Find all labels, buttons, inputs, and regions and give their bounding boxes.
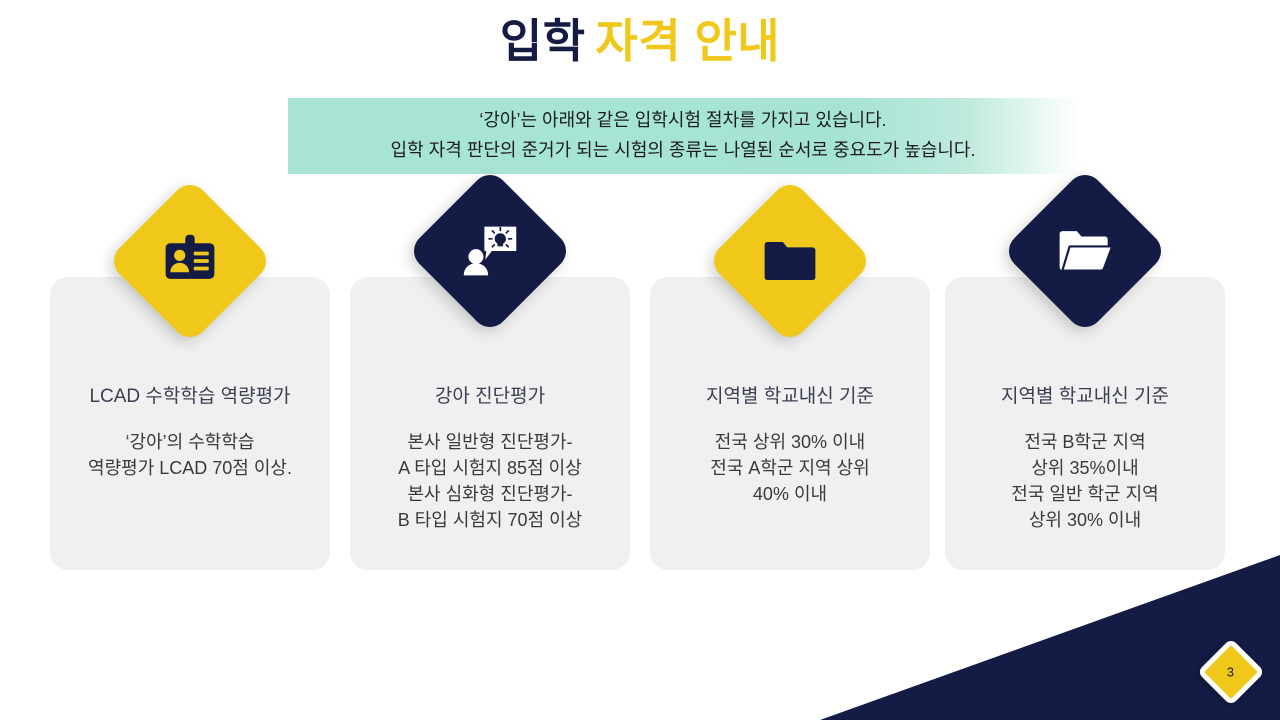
- card-body: 전국 상위 30% 이내 전국 A학군 지역 상위 40% 이내: [656, 429, 924, 507]
- card-body-line: 전국 상위 30% 이내: [656, 429, 924, 455]
- card-title: LCAD 수학학습 역량평가: [50, 385, 330, 410]
- card-body-line: 전국 A학군 지역 상위: [656, 455, 924, 481]
- folder-closed-icon: [757, 228, 823, 294]
- card-body: ‘강아’의 수학학습 역량평가 LCAD 70점 이상.: [56, 429, 324, 481]
- subtitle-line-2: 입학 자격 판단의 준거가 되는 시험의 종류는 나열된 순서로 중요도가 높습…: [391, 136, 976, 166]
- card-title: 지역별 학교내신 기준: [650, 385, 930, 410]
- card-body-line: A 타입 시험지 85점 이상: [356, 455, 624, 481]
- person-idea-bubble-icon: [457, 218, 523, 284]
- folder-open-icon: [1052, 218, 1118, 284]
- card-body-line: 전국 일반 학군 지역: [951, 481, 1219, 507]
- card-body-line: ‘강아’의 수학학습: [56, 429, 324, 455]
- card-body-line: 상위 35%이내: [951, 455, 1219, 481]
- page-title: 입학자격 안내: [0, 16, 1280, 67]
- card-body-line: 본사 일반형 진단평가-: [356, 429, 624, 455]
- slide-canvas: 입학자격 안내 ‘강아’는 아래와 같은 입학시험 절차를 가지고 있습니다. …: [0, 0, 1280, 720]
- card-title: 강아 진단평가: [350, 385, 630, 410]
- subtitle-banner: ‘강아’는 아래와 같은 입학시험 절차를 가지고 있습니다. 입학 자격 판단…: [288, 98, 1078, 174]
- subtitle-line-1: ‘강아’는 아래와 같은 입학시험 절차를 가지고 있습니다.: [479, 106, 886, 136]
- card-body: 전국 B학군 지역 상위 35%이내 전국 일반 학군 지역 상위 30% 이내: [951, 429, 1219, 533]
- card-body-line: 본사 심화형 진단평가-: [356, 481, 624, 507]
- card-body-line: 전국 B학군 지역: [951, 429, 1219, 455]
- card-title: 지역별 학교내신 기준: [945, 385, 1225, 410]
- id-card-icon: [157, 228, 223, 294]
- card-body-line: 역량평가 LCAD 70점 이상.: [56, 455, 324, 481]
- title-primary-text: 입학: [500, 15, 586, 67]
- title-accent-text: 자격 안내: [596, 15, 781, 67]
- corner-decoration-shape: [820, 555, 1280, 720]
- card-body: 본사 일반형 진단평가- A 타입 시험지 85점 이상 본사 심화형 진단평가…: [356, 429, 624, 533]
- card-body-line: 상위 30% 이내: [951, 507, 1219, 533]
- card-body-line: 40% 이내: [656, 481, 924, 507]
- card-body-line: B 타입 시험지 70점 이상: [356, 507, 624, 533]
- page-number-text: 3: [1227, 665, 1234, 678]
